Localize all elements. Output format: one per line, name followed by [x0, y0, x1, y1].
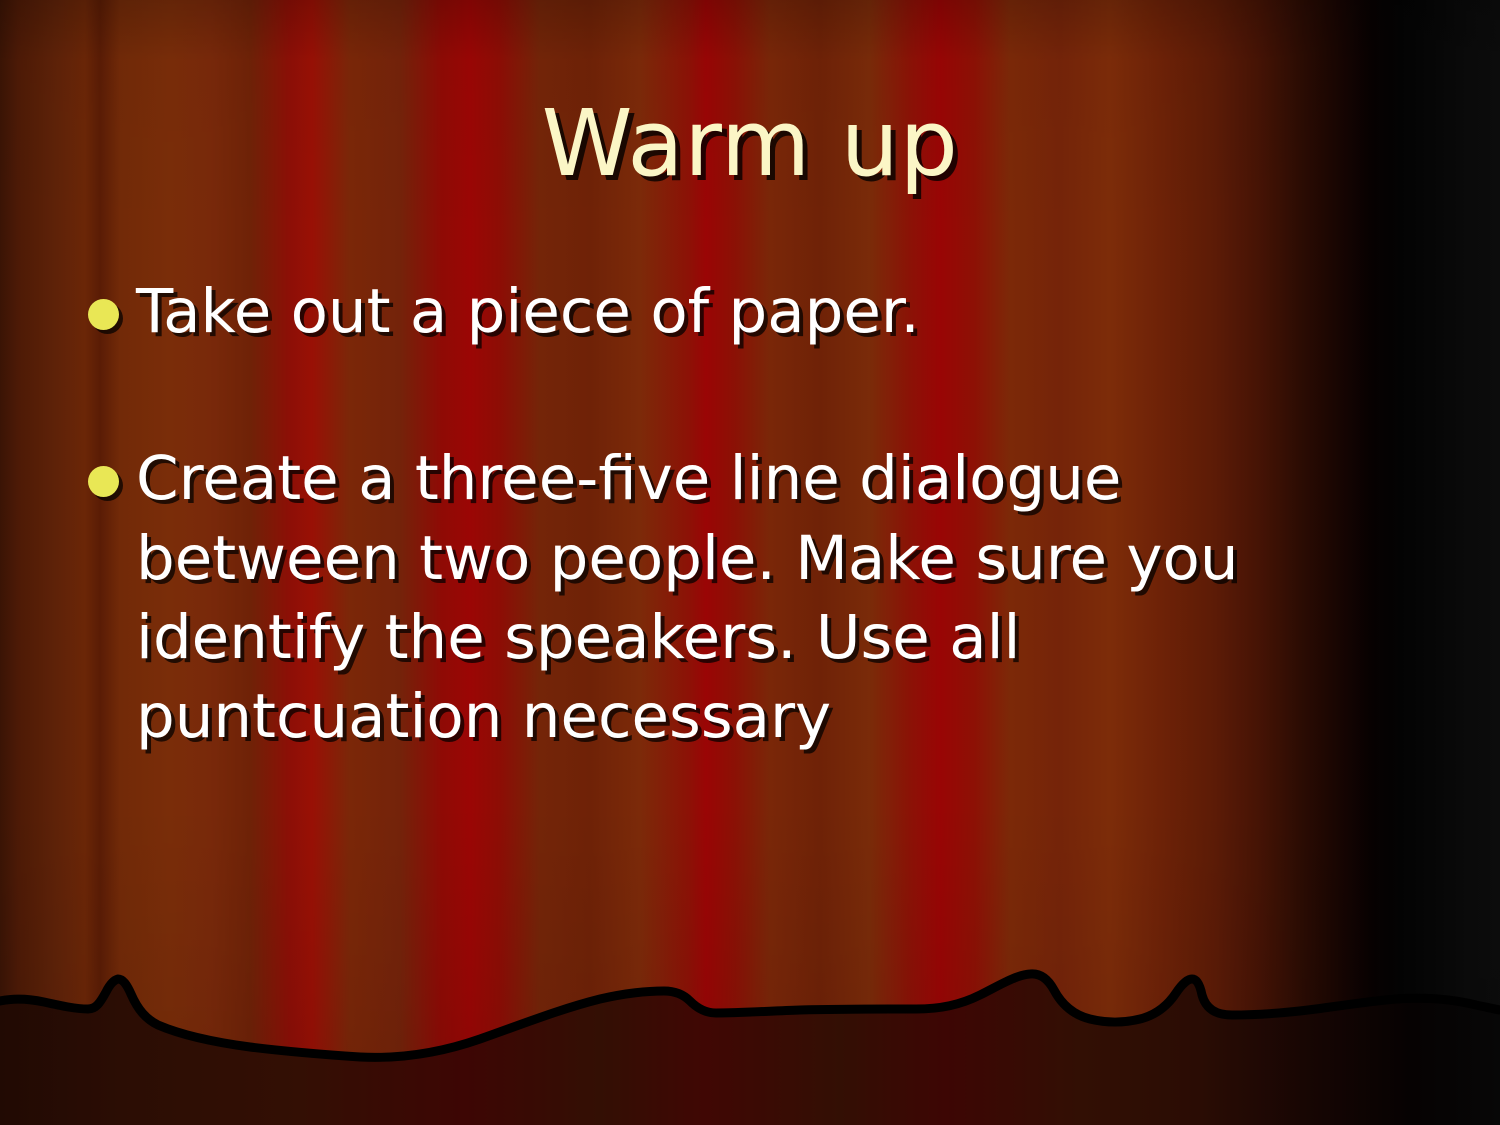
slide-title: Warm up — [0, 96, 1500, 193]
list-item: Create a three-five line dialogue betwee… — [88, 439, 1388, 756]
list-item-text: Take out a piece of paper. — [136, 272, 1388, 351]
presentation-slide: Warm up Take out a piece of paper. Creat… — [0, 0, 1500, 1125]
list-item: Take out a piece of paper. — [88, 272, 1388, 351]
bullet-dot-icon — [88, 466, 119, 497]
mountain-silhouette-icon — [0, 965, 1500, 1125]
list-item-text: Create a three-five line dialogue betwee… — [136, 439, 1388, 756]
slide-body: Take out a piece of paper. Create a thre… — [88, 272, 1388, 756]
bullet-dot-icon — [88, 299, 119, 330]
